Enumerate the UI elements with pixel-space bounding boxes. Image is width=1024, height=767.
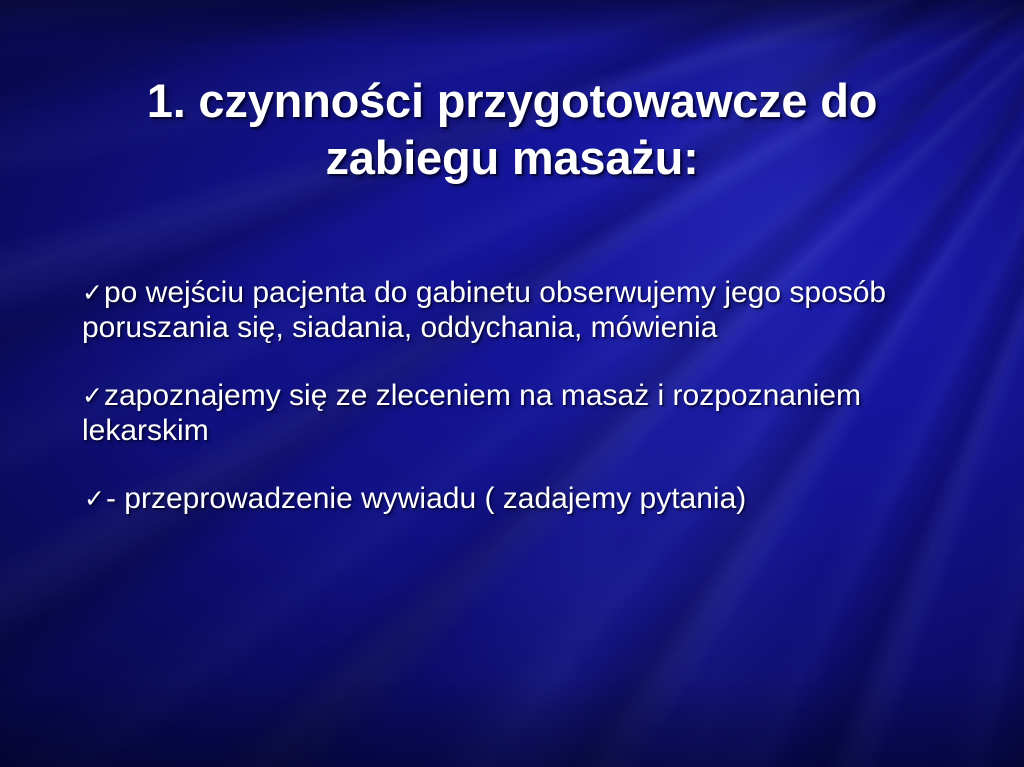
checkmark-icon: ✓ xyxy=(84,482,105,516)
slide-body: ✓po wejściu pacjenta do gabinetu obserwu… xyxy=(68,276,958,517)
checkmark-icon: ✓ xyxy=(82,379,103,413)
bullet-text: po wejściu pacjenta do gabinetu obserwuj… xyxy=(82,276,886,344)
slide-title: 1. czynności przygotowawcze do zabiegu m… xyxy=(58,72,966,186)
bullet-item: ✓- przeprowadzenie wywiadu ( zadajemy py… xyxy=(68,482,958,517)
bullet-text: zapoznajemy się ze zleceniem na masaż i … xyxy=(82,379,861,447)
checkmark-icon: ✓ xyxy=(82,276,103,310)
presentation-slide: 1. czynności przygotowawcze do zabiegu m… xyxy=(0,0,1024,767)
slide-content: 1. czynności przygotowawcze do zabiegu m… xyxy=(0,0,1024,767)
bullet-item: ✓zapoznajemy się ze zleceniem na masaż i… xyxy=(68,379,958,448)
bullet-item: ✓po wejściu pacjenta do gabinetu obserwu… xyxy=(68,276,958,345)
bullet-text: - przeprowadzenie wywiadu ( zadajemy pyt… xyxy=(106,482,746,515)
